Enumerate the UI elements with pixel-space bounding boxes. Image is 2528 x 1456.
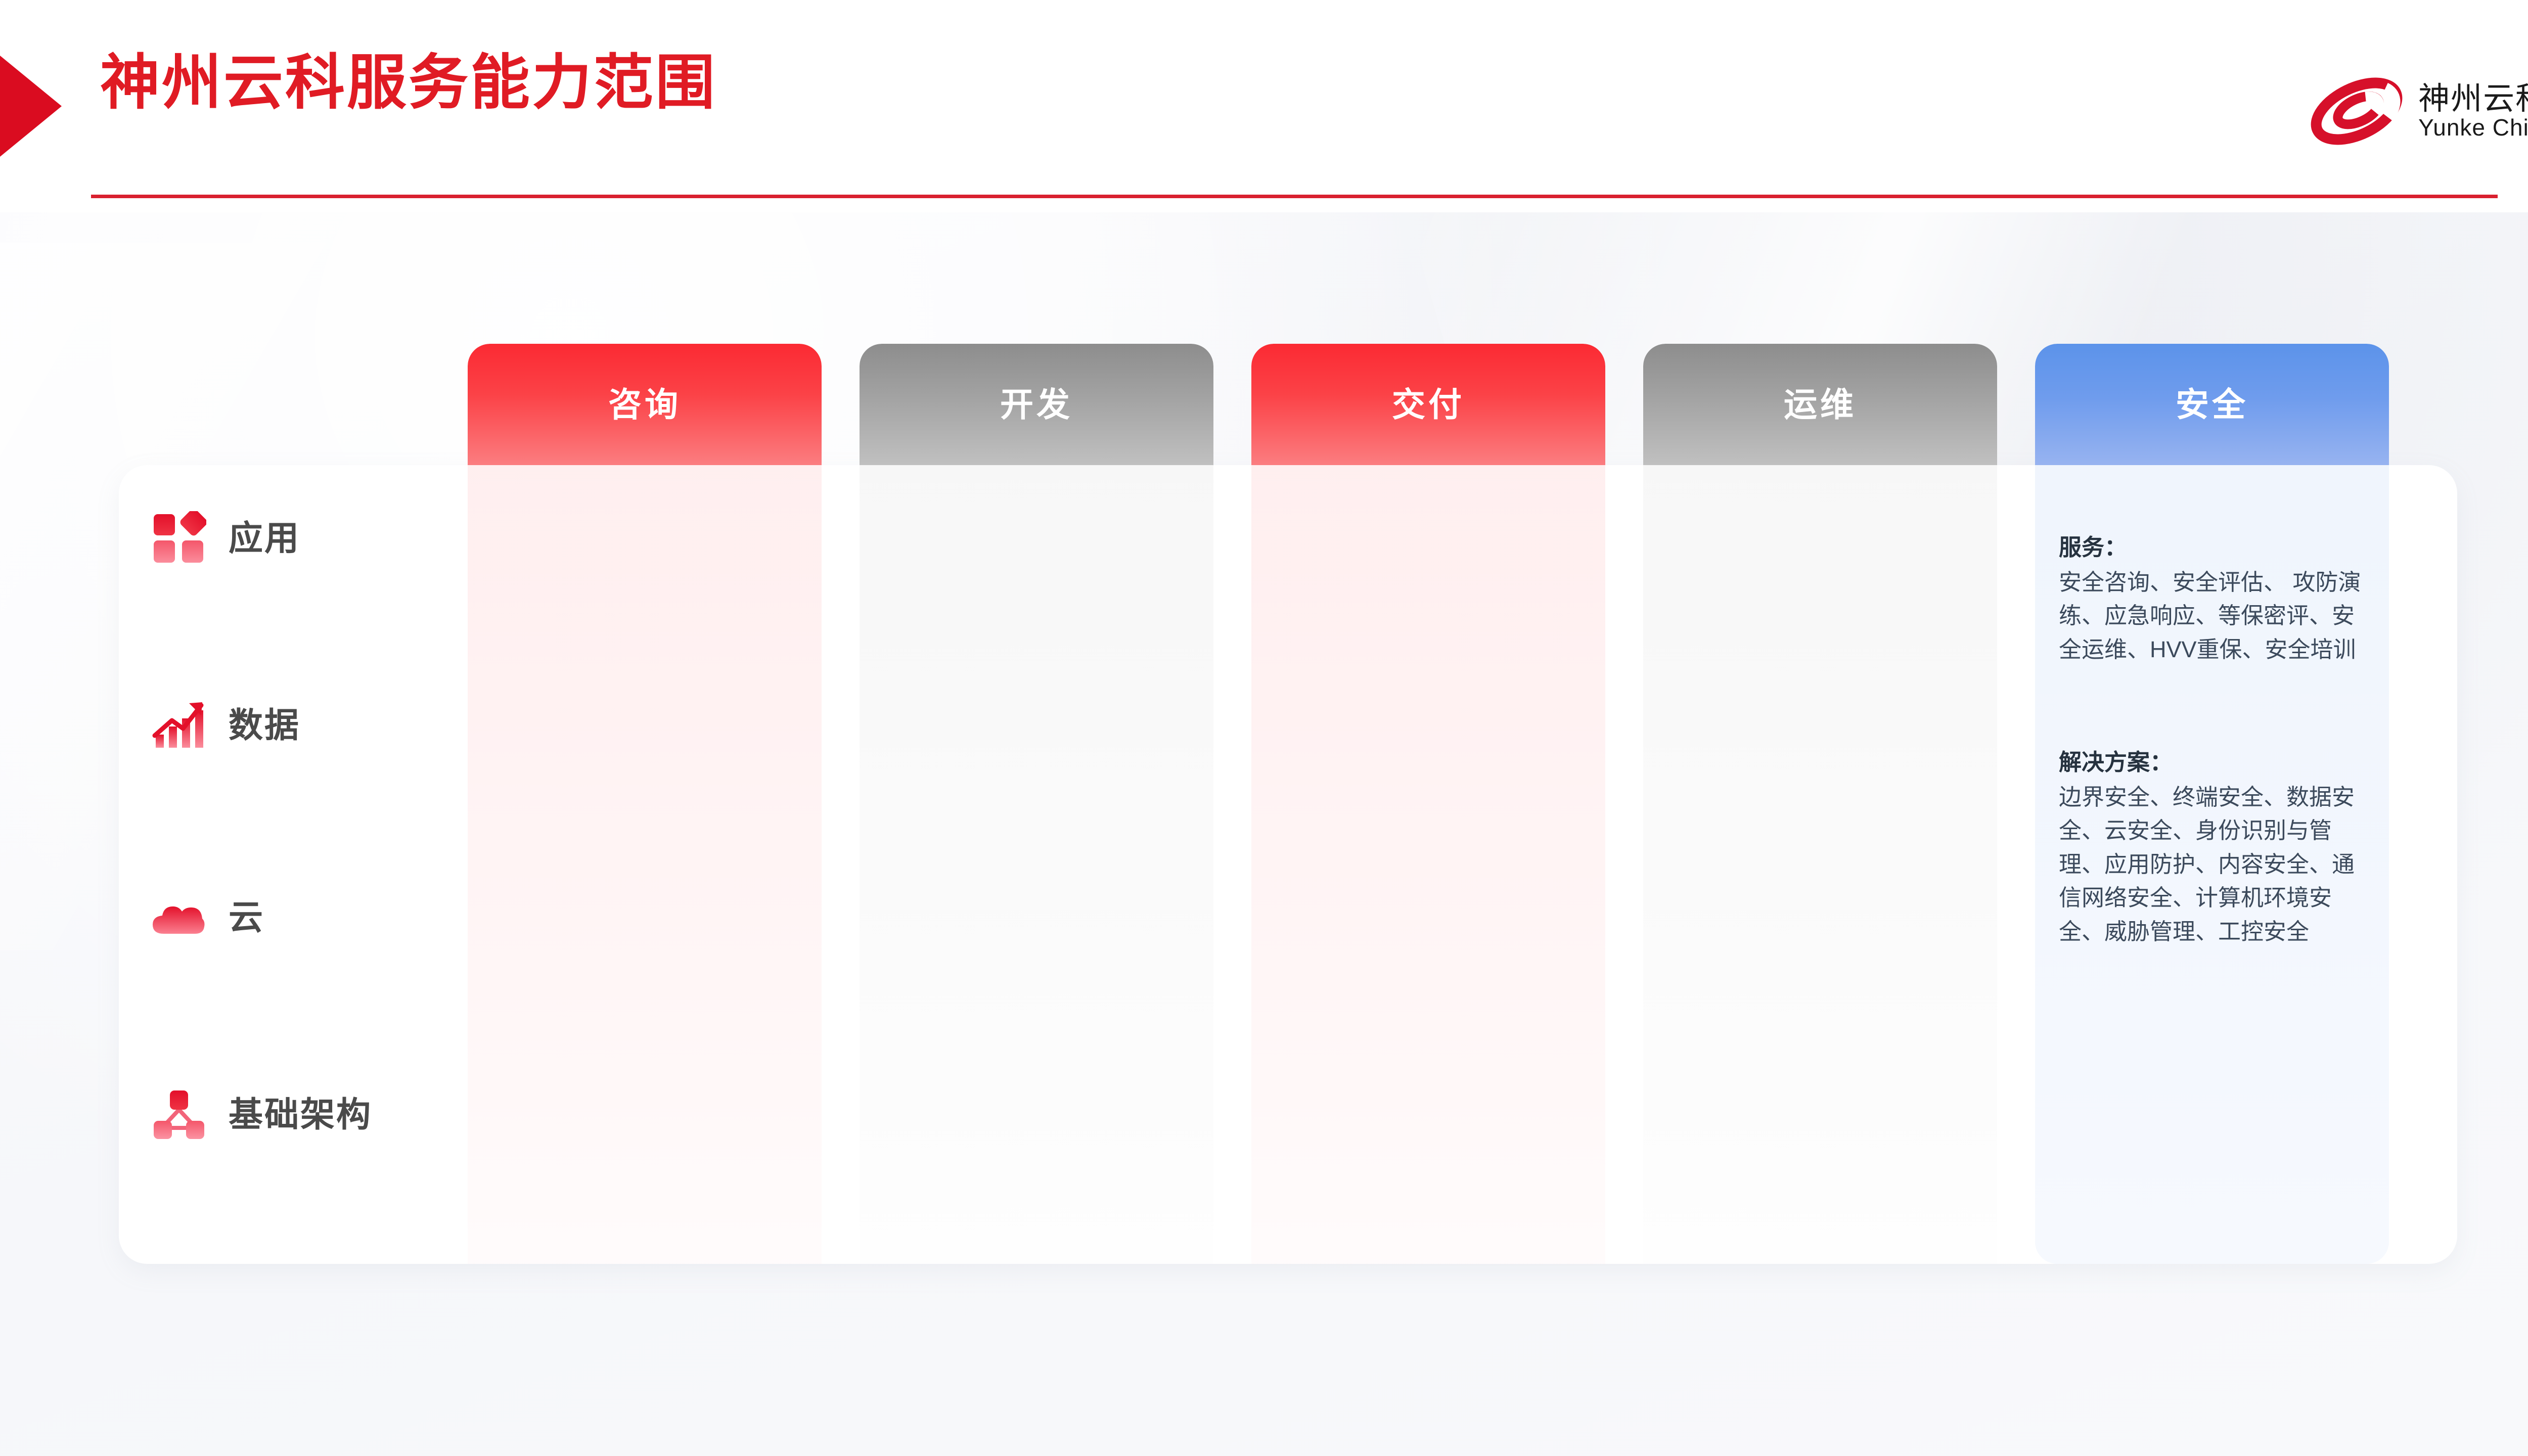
column-header-security: 安全 (2035, 344, 2389, 465)
column-development[interactable]: 开发 (860, 344, 1213, 1264)
security-solution-title: 解决方案： (2059, 746, 2362, 780)
security-service-title: 服务： (2059, 531, 2362, 565)
security-solution-body: 边界安全、终端安全、数据安全、云安全、身份识别与管理、应用防护、内容安全、通信网… (2059, 781, 2362, 949)
page-header: 神州云科服务能力范围 神州云科 Yunke China (0, 0, 2528, 212)
security-solution-block: 解决方案： 边界安全、终端安全、数据安全、云安全、身份识别与管理、应用防护、内容… (2059, 746, 2362, 949)
column-label: 安全 (2176, 388, 2248, 421)
row-label-data: 数据 (152, 693, 300, 758)
row-label-infrastructure: 基础架构 (152, 1082, 372, 1148)
page-title: 神州云科服务能力范围 (100, 51, 717, 116)
app-squares-icon (152, 511, 206, 566)
column-consulting[interactable]: 咨询 (468, 344, 822, 1264)
column-label: 交付 (1392, 388, 1465, 421)
column-delivery[interactable]: 交付 (1251, 344, 1605, 1264)
column-header-consulting: 咨询 (468, 344, 822, 465)
row-label-cloud: 云 (152, 885, 264, 950)
row-label-application: 应用 (152, 506, 300, 571)
row-label-text: 应用 (229, 521, 300, 556)
row-label-text: 数据 (229, 708, 300, 743)
column-label: 咨询 (608, 388, 681, 421)
swirl-at-logo-icon (2306, 73, 2407, 149)
logo-wordmark: 神州云科 Yunke China (2418, 83, 2528, 139)
cloud-icon (152, 890, 206, 945)
column-body-delivery (1251, 465, 1605, 1264)
column-body-consulting (468, 465, 822, 1264)
security-service-block: 服务： 安全咨询、安全评估、 攻防演练、应急响应、等保密评、安全运维、HVV重保… (2059, 531, 2362, 666)
network-nodes-icon (152, 1087, 206, 1142)
content-stage: 咨询 开发 交付 运维 安全 (0, 212, 2528, 1456)
column-body-operations (1643, 465, 1997, 1264)
security-service-body: 安全咨询、安全评估、 攻防演练、应急响应、等保密评、安全运维、HVV重保、安全培… (2059, 566, 2362, 667)
column-label: 运维 (1784, 388, 1857, 421)
column-body-development (860, 465, 1213, 1264)
logo-name-en: Yunke China (2418, 116, 2528, 139)
row-label-text: 基础架构 (229, 1098, 372, 1132)
company-logo: 神州云科 Yunke China (2306, 73, 2528, 149)
header-arrow-marker-icon (0, 56, 62, 157)
header-divider-rule (91, 195, 2498, 198)
row-label-text: 云 (229, 900, 264, 935)
bar-chart-trend-icon (152, 698, 206, 753)
logo-name-cn: 神州云科 (2418, 83, 2528, 115)
column-header-delivery: 交付 (1251, 344, 1605, 465)
column-label: 开发 (1000, 388, 1073, 421)
row-label-column: 应用 数据 (152, 465, 465, 1264)
column-operations[interactable]: 运维 (1643, 344, 1997, 1264)
column-header-development: 开发 (860, 344, 1213, 465)
column-header-operations: 运维 (1643, 344, 1997, 465)
